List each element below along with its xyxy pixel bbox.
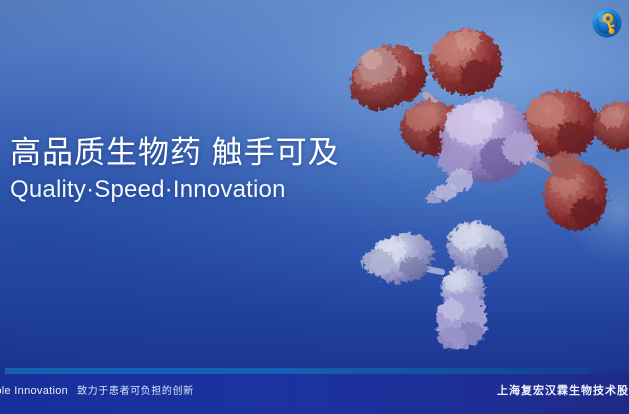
footer-tagline-cn: 致力于患者可负担的创新 [77,386,194,397]
background-vignette [0,0,629,414]
headline-block: 高品质生物药 触手可及 Quality·Speed·Innovation [10,134,430,204]
headline-chinese: 高品质生物药 触手可及 [10,134,430,172]
footer-tagline: Affordable Innovation致力于患者可负担的创新 [0,384,194,399]
henlius-logo[interactable] [591,7,623,39]
slide-canvas: 高品质生物药 触手可及 Quality·Speed·Innovation [0,0,629,414]
footer-company-name: 上海复宏汉霖生物技术股份有限公司 [497,384,629,398]
footer-bar: Affordable Innovation致力于患者可负担的创新 上海复宏汉霖生… [0,374,629,414]
headline-english: Quality·Speed·Innovation [10,176,430,204]
footer-tagline-en: Affordable Innovation [0,385,68,397]
